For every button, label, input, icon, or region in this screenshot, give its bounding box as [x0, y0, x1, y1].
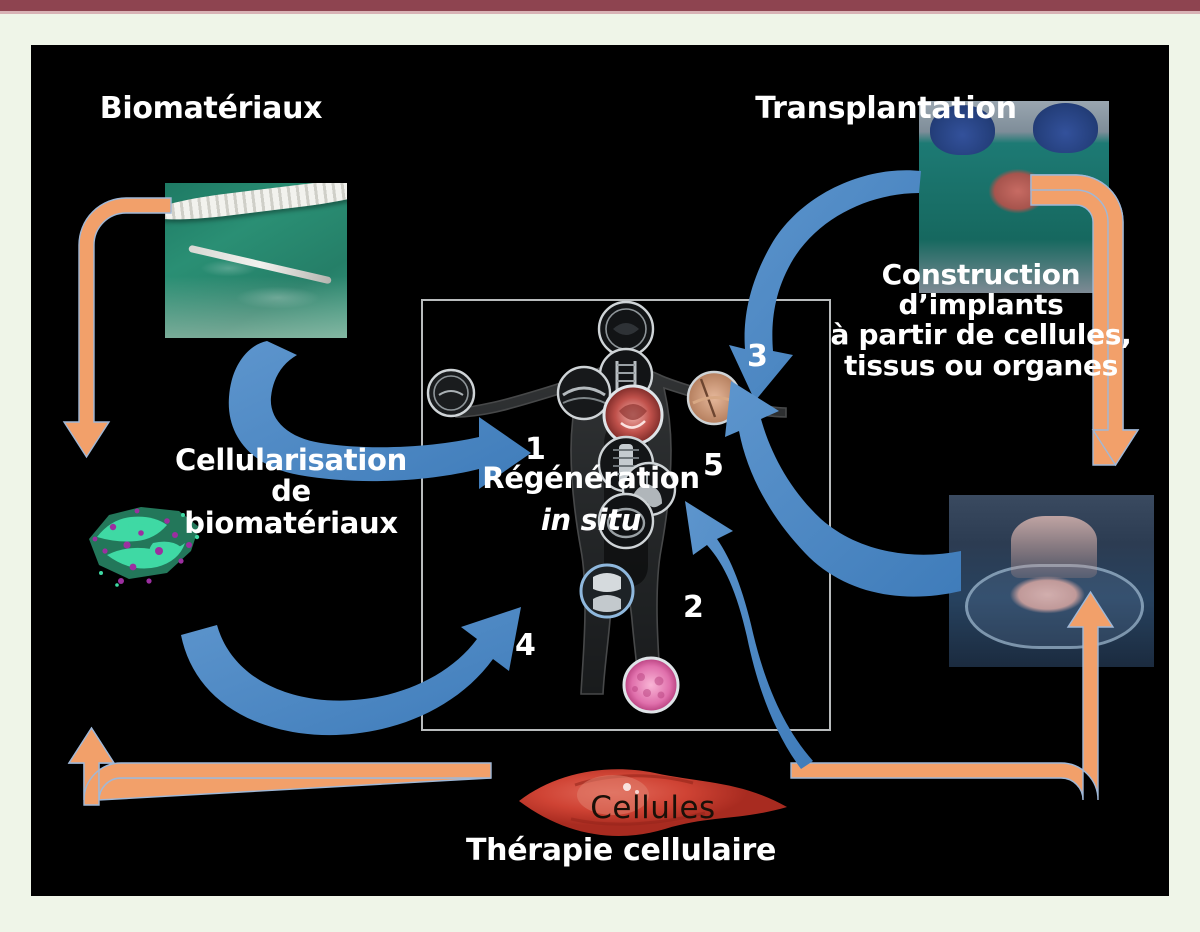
blue-arrow-5	[725, 381, 961, 597]
top-hairline	[0, 11, 1200, 14]
arrow-number-4: 4	[515, 628, 536, 663]
blue-arrow-2	[685, 501, 813, 769]
orange-arrow-cells-to-cellularisation	[69, 728, 491, 805]
figure-panel: 1 2 3 4 5 Cellules Biomatériaux Transpla…	[31, 45, 1169, 896]
arrow-number-2: 2	[683, 590, 704, 625]
arrow-number-1: 1	[525, 432, 546, 467]
label-biomateriaux: Biomatériaux	[76, 93, 346, 125]
orange-arrow-cells-to-organ	[791, 592, 1113, 800]
label-construction: Construction d’implants à partir de cell…	[821, 260, 1141, 381]
label-regeneration: Régénération	[461, 463, 721, 494]
orange-arrow-biomaterials-down	[64, 198, 171, 457]
label-transplantation: Transplantation	[736, 93, 1036, 125]
label-therapie-cellulaire: Thérapie cellulaire	[411, 835, 831, 867]
top-accent-bar	[0, 0, 1200, 11]
cell-label: Cellules	[515, 790, 791, 826]
label-in-situ: in situ	[461, 505, 721, 536]
label-cellularisation: Cellularisation de biomatériaux	[151, 445, 431, 539]
figure-page: 1 2 3 4 5 Cellules Biomatériaux Transpla…	[0, 0, 1200, 932]
blue-arrow-4	[181, 607, 521, 735]
arrow-number-3: 3	[747, 339, 768, 374]
arrow-number-5: 5	[703, 448, 724, 483]
